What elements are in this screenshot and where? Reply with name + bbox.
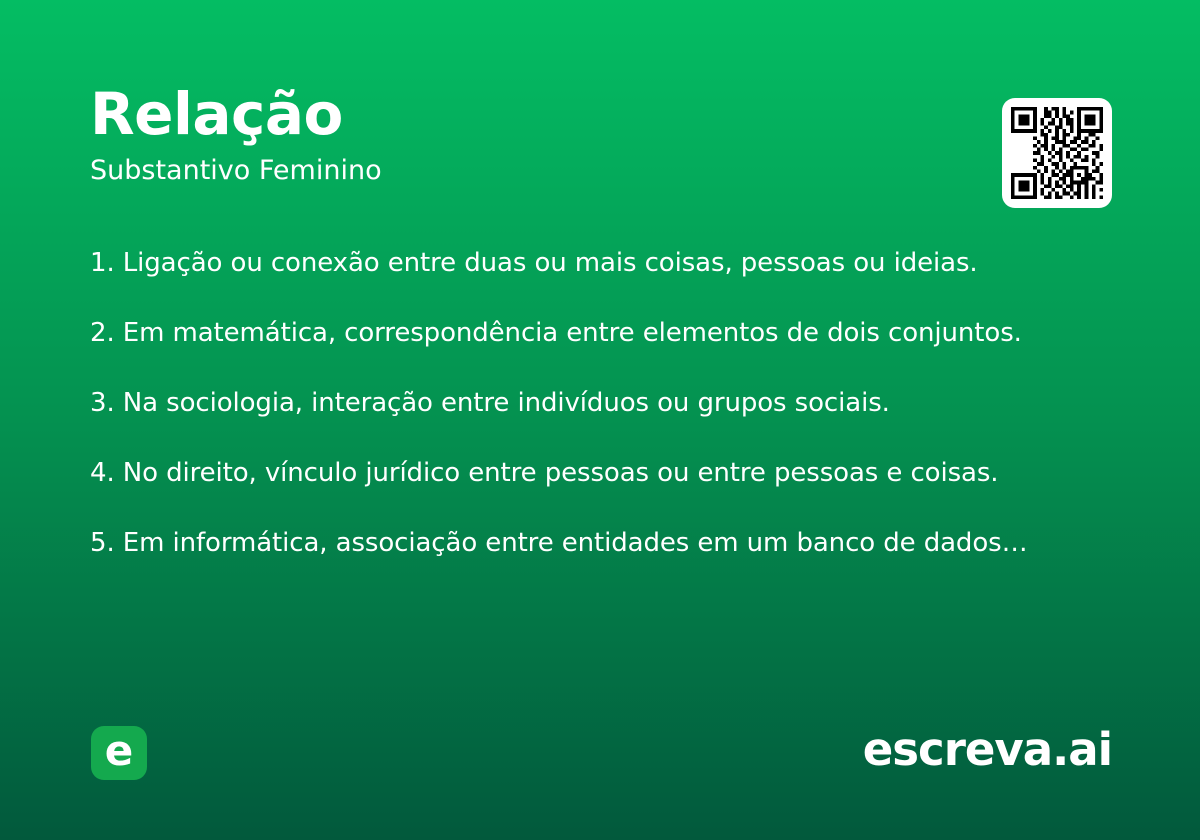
card-footer: e escreva.ai [0, 720, 1200, 840]
brand-logo-letter: e [105, 730, 134, 772]
definition-item: 2. Em matemática, correspondência entre … [90, 316, 1090, 351]
page-title: Relação [90, 84, 950, 145]
brand-name: escreva.ai [863, 720, 1112, 780]
brand-logo-icon[interactable]: e [91, 726, 147, 780]
definition-item: 5. Em informática, associação entre enti… [90, 526, 1090, 561]
card-header: Relação Substantivo Feminino [90, 84, 950, 187]
dictionary-card: Relação Substantivo Feminino [0, 0, 1200, 840]
qr-code-card[interactable] [1002, 98, 1112, 208]
definition-item: 1. Ligação ou conexão entre duas ou mais… [90, 246, 1090, 281]
definition-item: 4. No direito, vínculo jurídico entre pe… [90, 456, 1090, 491]
word-class-label: Substantivo Feminino [90, 155, 950, 187]
qr-code-icon [1011, 107, 1103, 199]
definition-list: 1. Ligação ou conexão entre duas ou mais… [90, 246, 1090, 561]
definition-item: 3. Na sociologia, interação entre indiví… [90, 386, 1090, 421]
